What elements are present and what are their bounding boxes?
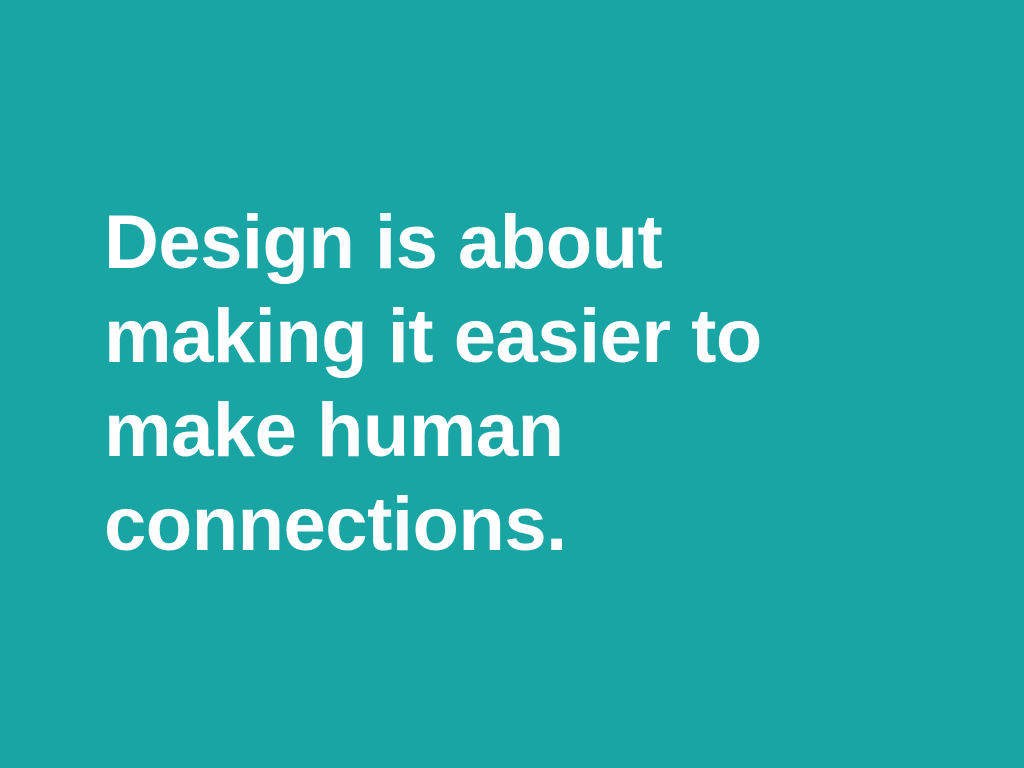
quote-line-1: Design is about	[104, 196, 864, 290]
quote-line-3: make human	[104, 384, 864, 478]
quote-text-block: Design is about making it easier to make…	[104, 196, 864, 572]
quote-line-2: making it easier to	[104, 290, 864, 384]
quote-slide: Design is about making it easier to make…	[0, 0, 1024, 768]
quote-line-4: connections.	[104, 478, 864, 572]
